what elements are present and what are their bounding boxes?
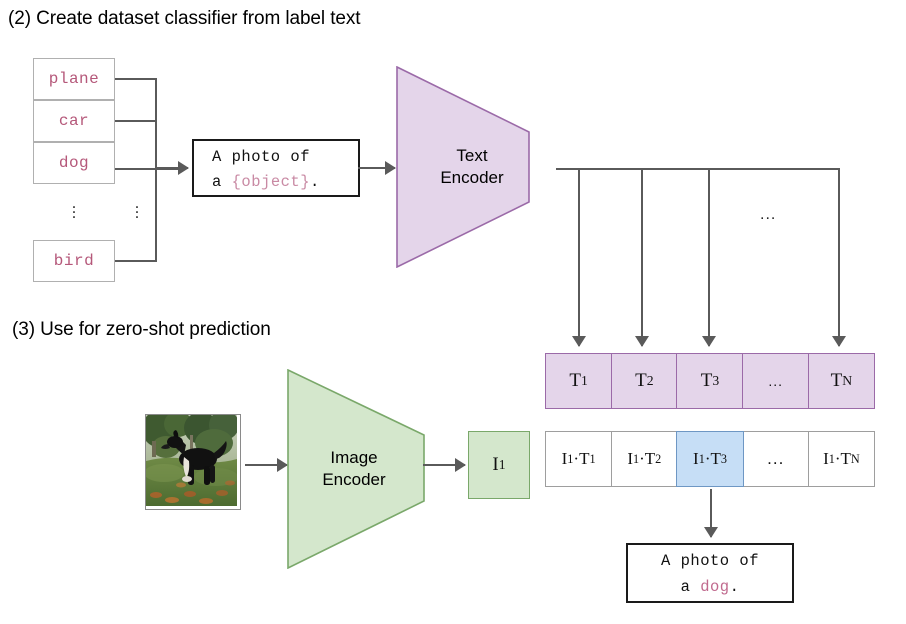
prediction-line-2: a dog. [628,574,792,600]
label-box-car: car [33,100,115,142]
text-encoder-line-2: Encoder [440,167,503,189]
tn-base: T [831,370,843,392]
similarity-cell-2: I1·T2 [611,431,678,487]
prediction-line-1: A photo of [628,548,792,574]
simn-t: T [841,449,851,469]
text-encoder-line-1: Text [440,145,503,167]
t1-base: T [569,370,581,392]
image-encoder-label: Image Encoder [322,447,385,491]
sim2-t: T [645,449,655,469]
connector-bus [155,78,157,261]
prediction-class: dog [700,578,729,596]
arrow-image-encoder-to-embedding [423,464,465,466]
label-box-plane: plane [33,58,115,100]
similarity-cell-ellipsis: ... [742,431,809,487]
label-box-bird: bird [33,240,115,282]
prompt-template-box: A photo of a {object}. [192,139,360,197]
sim3-t: T [710,449,720,469]
arrow-to-t2 [641,168,643,346]
sim1-t-sub: 1 [589,452,595,467]
similarity-cell-1: I1·T1 [545,431,612,487]
prediction-prefix: a [681,578,701,596]
simn-t-sub: N [851,452,860,467]
t2-sub: 2 [647,373,654,389]
prompt-line-2: a {object}. [212,170,358,195]
text-embedding-row: T1 T2 T3 ... TN [545,353,875,409]
prompt-prefix: a [212,173,232,191]
vertical-ellipsis-connectors: ... [131,200,143,215]
label-box-dog: dog [33,142,115,184]
image-encoder-line-1: Image [322,447,385,469]
arrow-prompt-to-text-encoder [358,167,395,169]
text-embedding-cell-t3: T3 [676,353,743,409]
fanout-ellipsis: ... [760,206,776,224]
similarity-score-row: I1·T1 I1·T2 I1·T3 ... I1·TN [545,431,875,487]
clip-zero-shot-diagram: (2) Create dataset classifier from label… [0,0,906,624]
tn-sub: N [842,373,852,389]
text-encoder-block: Text Encoder [396,66,556,268]
text-embedding-cell-tn: TN [808,353,875,409]
text-embedding-cell-ellipsis: ... [742,353,809,409]
t3-sub: 3 [712,373,719,389]
image-encoder-line-2: Encoder [322,469,385,491]
prediction-result-box: A photo of a dog. [626,543,794,603]
i1-sub: 1 [499,457,506,473]
sim3-t-sub: 3 [721,452,727,467]
t2-base: T [635,370,647,392]
prompt-object-slot: {object} [232,173,310,191]
arrow-to-t1 [578,168,580,346]
fanout-trunk-line [556,168,838,170]
t1-sub: 1 [581,373,588,389]
image-encoder-block: Image Encoder [287,369,427,569]
t3-base: T [701,370,713,392]
vertical-ellipsis-labels: ... [68,200,80,215]
prediction-suffix: . [730,578,740,596]
text-embedding-cell-t1: T1 [545,353,612,409]
prompt-suffix: . [310,173,320,191]
connector-bird [115,260,157,262]
arrow-to-prediction [710,489,712,537]
connector-car [115,120,157,122]
arrow-labels-to-prompt [155,167,188,169]
similarity-cell-n: I1·TN [808,431,875,487]
section-title-step-3: (3) Use for zero-shot prediction [12,319,271,341]
image-embedding-cell-i1: I1 [468,431,530,499]
connector-plane [115,78,157,80]
sim1-t: T [579,449,589,469]
text-encoder-label: Text Encoder [440,145,503,189]
text-embedding-cell-t2: T2 [611,353,678,409]
arrow-to-t3 [708,168,710,346]
arrow-image-to-image-encoder [245,464,287,466]
input-image-thumbnail [145,414,241,510]
prompt-line-1: A photo of [212,145,358,170]
sim2-t-sub: 2 [655,452,661,467]
dog-photo-illustration [146,415,237,506]
similarity-cell-3-selected: I1·T3 [676,431,743,487]
section-title-step-2: (2) Create dataset classifier from label… [8,8,360,30]
arrow-to-tn [838,168,840,346]
